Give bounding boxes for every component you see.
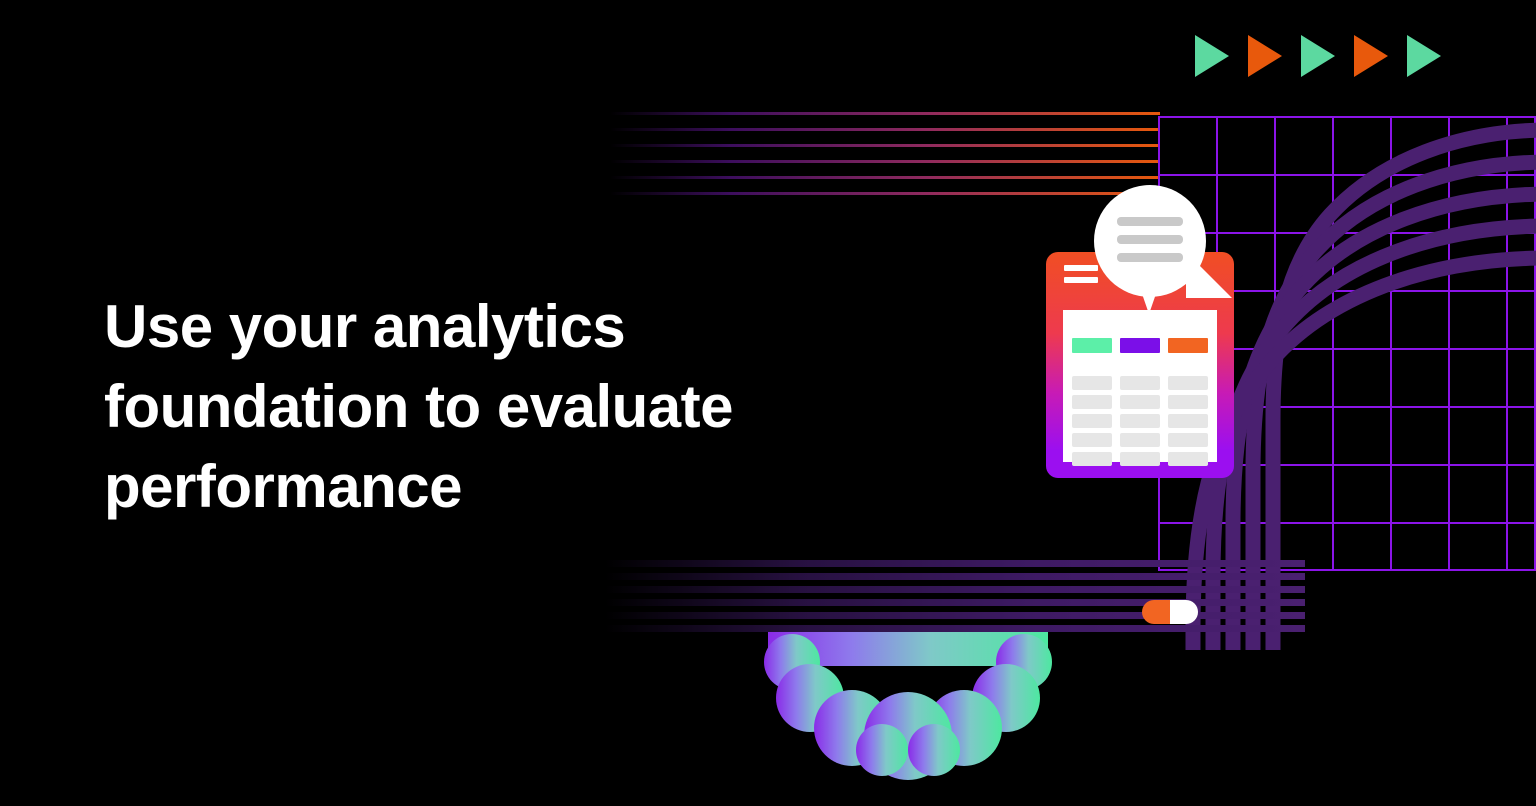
- hamburger-bar: [1064, 265, 1098, 271]
- table-cell: [1120, 376, 1160, 390]
- play-triangle-row: [1195, 35, 1441, 77]
- play-triangle-3-icon: [1301, 35, 1335, 77]
- table-cell: [1072, 376, 1112, 390]
- banner-canvas: Use your analytics foundation to evaluat…: [0, 0, 1536, 806]
- table-header-cell-1: [1072, 338, 1112, 353]
- table-header-cell-2: [1120, 338, 1160, 353]
- page-title: Use your analytics foundation to evaluat…: [104, 287, 864, 527]
- table-body: [1072, 376, 1208, 466]
- hamburger-icon[interactable]: [1064, 265, 1098, 285]
- table-row: [1072, 452, 1208, 466]
- table-cell: [1168, 452, 1208, 466]
- speech-bubble: [1094, 185, 1206, 297]
- table-cell: [1168, 376, 1208, 390]
- table-cell: [1120, 395, 1160, 409]
- speech-bubble-line: [1117, 235, 1183, 244]
- table-cell: [1168, 395, 1208, 409]
- speech-bubble-line: [1117, 253, 1183, 262]
- track-line: [605, 573, 1305, 580]
- table-cell: [1168, 433, 1208, 447]
- table-row: [1072, 395, 1208, 409]
- table-header-row: [1072, 338, 1208, 353]
- table-row: [1072, 433, 1208, 447]
- table-header-cell-3: [1168, 338, 1208, 353]
- gradient-line: [610, 112, 1160, 115]
- track-line: [605, 599, 1305, 606]
- track-line: [605, 625, 1305, 632]
- table-cell: [1120, 452, 1160, 466]
- play-triangle-5-icon: [1407, 35, 1441, 77]
- gradient-line: [610, 160, 1160, 163]
- table-row: [1072, 414, 1208, 428]
- gradient-line-stack-top: [610, 112, 1160, 208]
- gradient-line-stack-bottom: [605, 560, 1305, 632]
- track-line: [605, 586, 1305, 593]
- capsule-right-half: [1170, 600, 1198, 624]
- capsule-left-half: [1142, 600, 1170, 624]
- gradient-line: [610, 192, 1160, 195]
- table-cell: [1072, 414, 1112, 428]
- table-cell: [1072, 452, 1112, 466]
- table-row: [1072, 376, 1208, 390]
- hamburger-bar: [1064, 277, 1098, 283]
- speech-bubble-line: [1117, 217, 1183, 226]
- gradient-line: [610, 128, 1160, 131]
- capsule-marker: [1142, 600, 1198, 624]
- scalloped-cloud: [762, 632, 1054, 806]
- table-cell: [1072, 433, 1112, 447]
- play-triangle-1-icon: [1195, 35, 1229, 77]
- track-line: [605, 612, 1305, 619]
- table-cell: [1120, 414, 1160, 428]
- gradient-line: [610, 176, 1160, 179]
- track-line: [605, 560, 1305, 567]
- table-cell: [1120, 433, 1160, 447]
- table-cell: [1072, 395, 1112, 409]
- data-table: [1063, 310, 1217, 462]
- play-triangle-2-icon: [1248, 35, 1282, 77]
- gradient-line: [610, 144, 1160, 147]
- table-cell: [1168, 414, 1208, 428]
- play-triangle-4-icon: [1354, 35, 1388, 77]
